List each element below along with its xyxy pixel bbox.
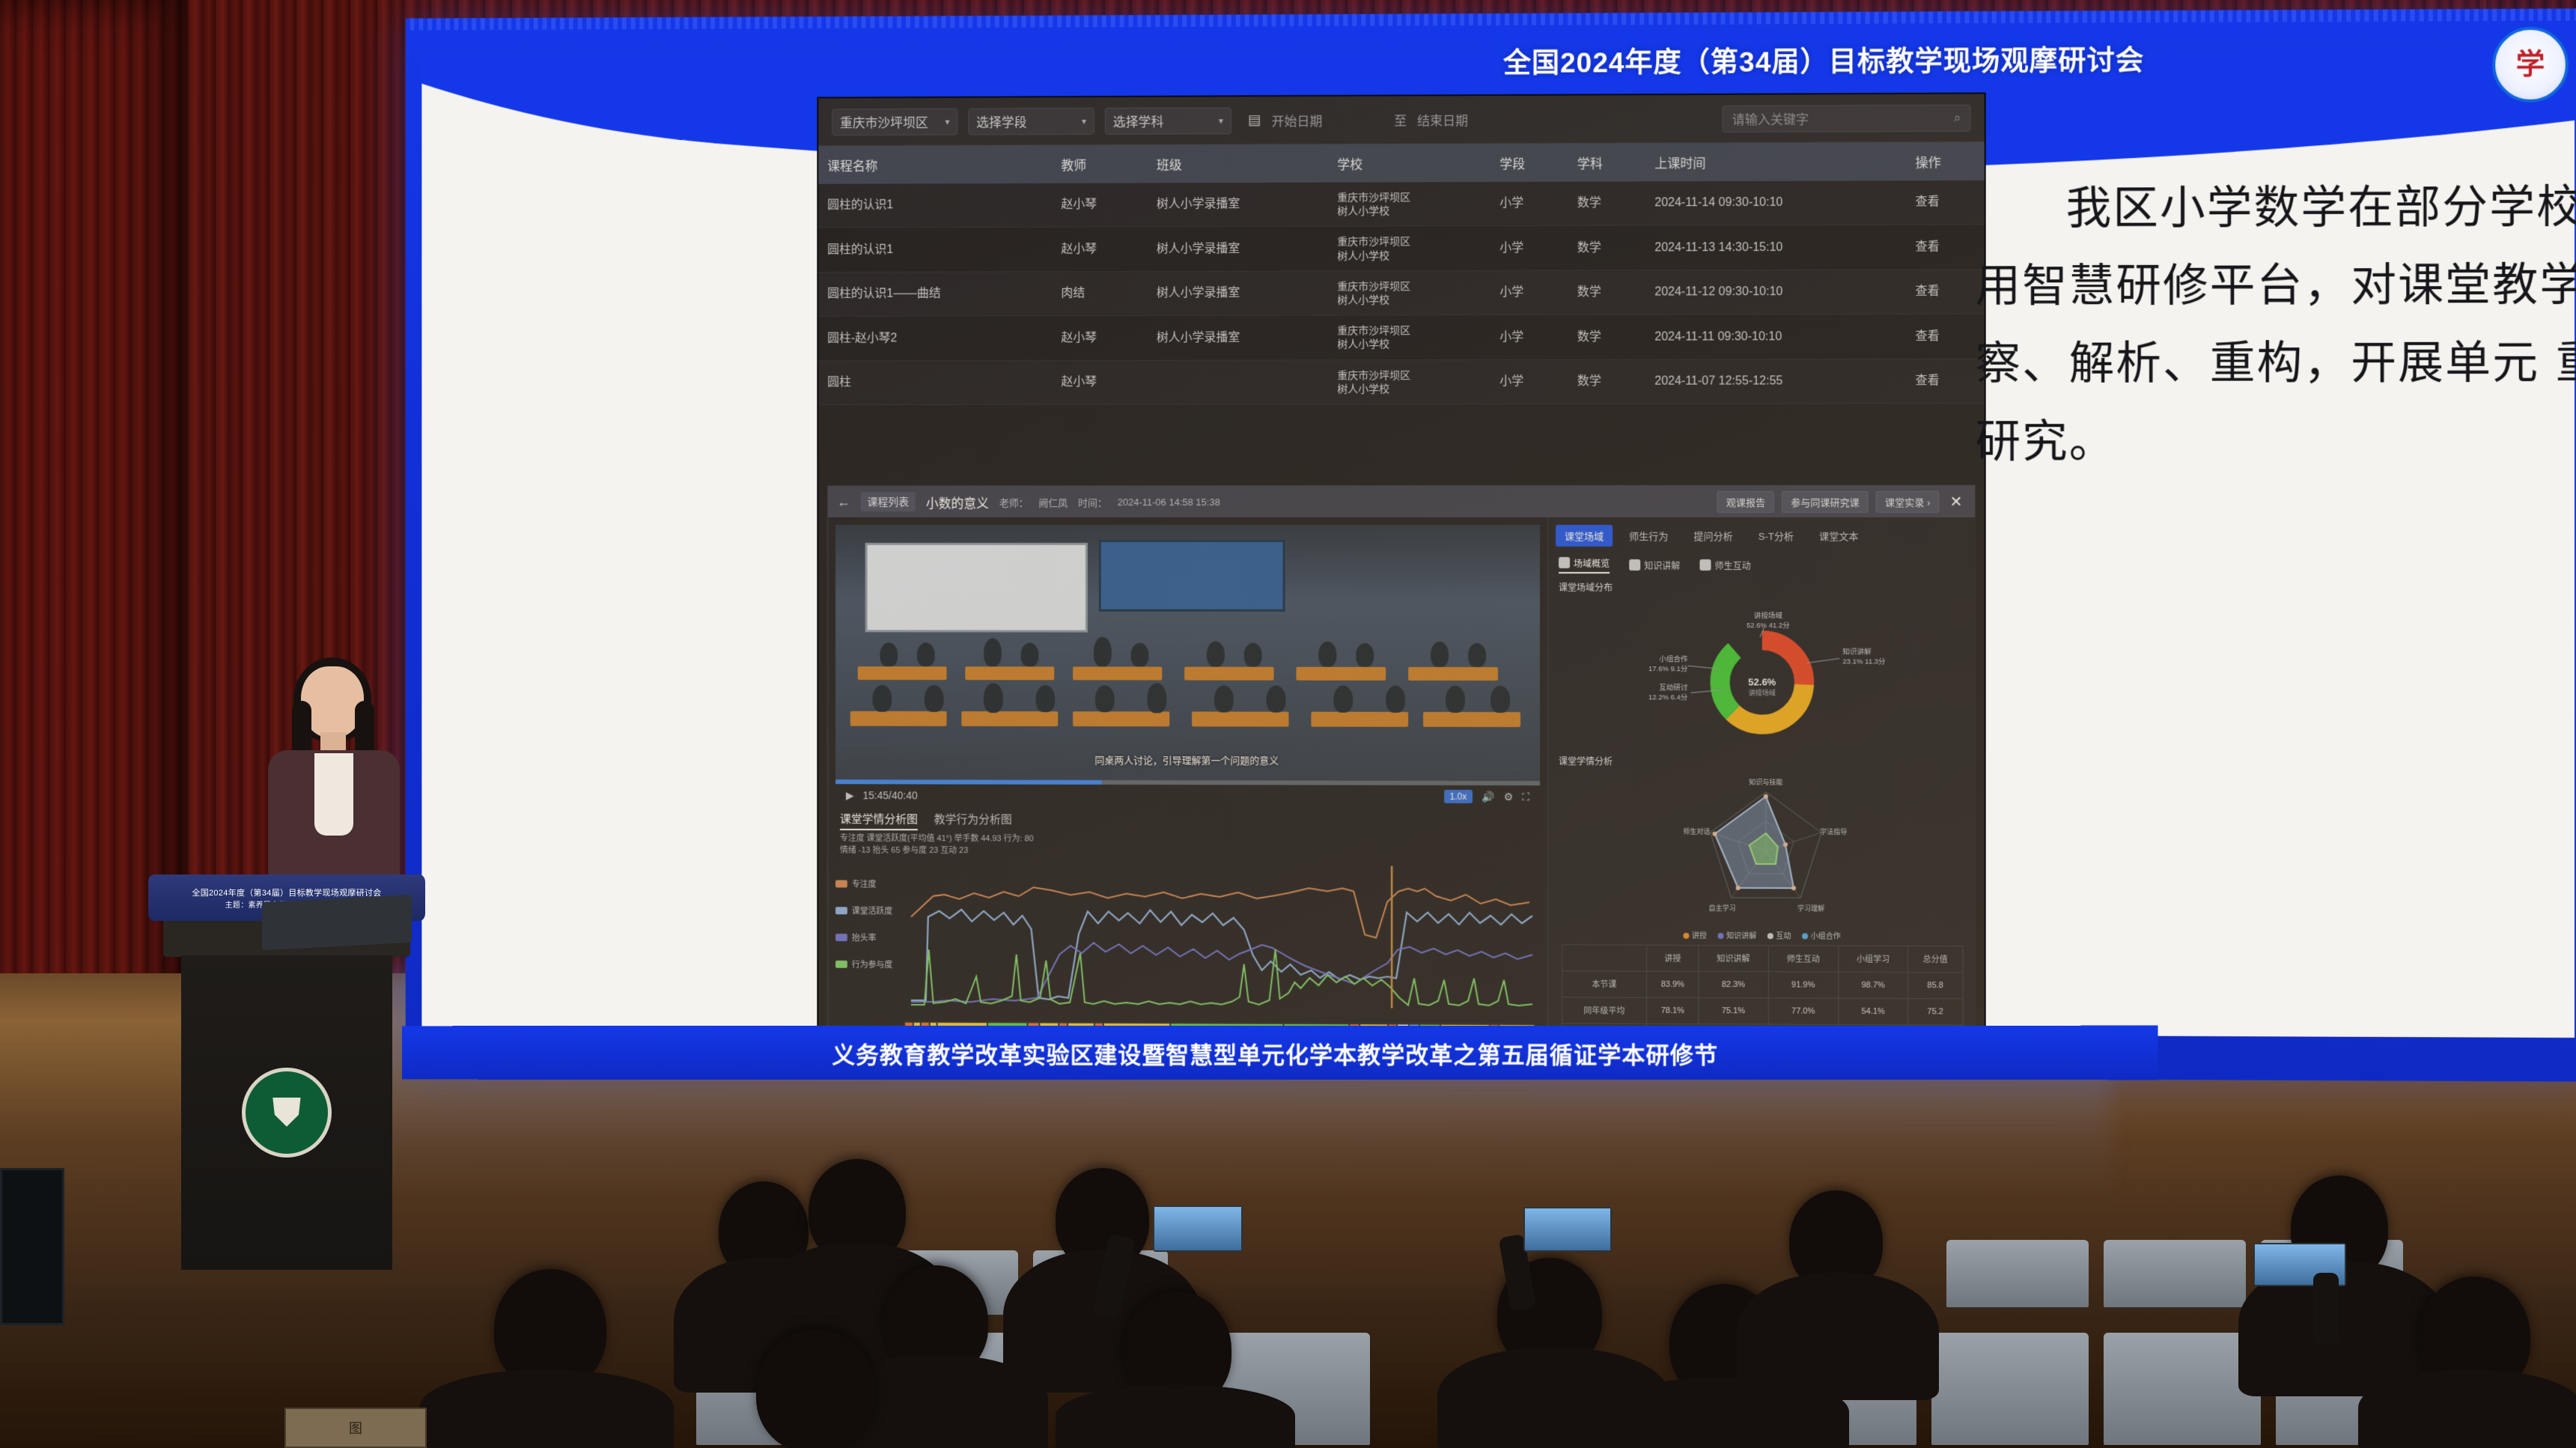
cell-stage: 小学 bbox=[1491, 226, 1568, 271]
video-caption: 同桌两人讨论，引导理解第一个问题的意义 bbox=[835, 752, 1540, 767]
donut-center: 52.6% 讲授场域 bbox=[1745, 676, 1779, 697]
donut-label-4-name: 互动研讨 bbox=[1605, 684, 1687, 693]
audience-phone bbox=[1523, 1207, 1612, 1252]
region-select-value: 重庆市沙坪坝区 bbox=[840, 112, 928, 131]
cell-school: 重庆市沙坪坝区 树人小学校 bbox=[1328, 182, 1491, 226]
table-body: 圆柱的认识1 赵小琴 树人小学录播室 重庆市沙坪坝区 树人小学校 小学 数学 2… bbox=[818, 180, 1984, 405]
view-link[interactable]: 查看 bbox=[1906, 314, 1984, 359]
legend-label: 抬头率 bbox=[852, 931, 877, 943]
tab-st-analysis[interactable]: S-T分析 bbox=[1750, 525, 1803, 547]
table-row[interactable]: 圆柱 赵小琴 重庆市沙坪坝区 树人小学校 小学 数学 2024-11-07 12… bbox=[818, 359, 1984, 405]
radar-axis-3: 自主学习 bbox=[1709, 904, 1736, 912]
back-arrow-icon[interactable]: ← bbox=[837, 494, 850, 510]
donut-label-1-name: 讲授场域 bbox=[1727, 612, 1810, 621]
slide-line-1: 我区小学数学在部分学校利 bbox=[1976, 168, 2576, 248]
table-row[interactable]: 圆柱的认识1 赵小琴 树人小学录播室 重庆市沙坪坝区 树人小学校 小学 数学 2… bbox=[818, 225, 1984, 272]
legend-item: 专注度 bbox=[835, 877, 892, 889]
cell-stage: 小学 bbox=[1491, 359, 1568, 404]
cell-time: 2024-11-12 09:30-10:10 bbox=[1645, 270, 1906, 314]
cell-subject: 数学 bbox=[1568, 314, 1646, 359]
observation-report-button[interactable]: 观课报告 bbox=[1717, 490, 1774, 512]
legend-item: 讲授 bbox=[1683, 929, 1707, 940]
cell-time: 2024-11-11 09:30-10:10 bbox=[1645, 314, 1906, 359]
subtab-field-overview[interactable]: 场域概览 bbox=[1559, 557, 1610, 574]
col-subject: 学科 bbox=[1568, 143, 1646, 181]
modal-header-actions: 观课报告 参与同课研究课 课堂实录 › ✕ bbox=[1717, 490, 1966, 512]
seat bbox=[2104, 1240, 2246, 1307]
course-detail-modal: ← 课程列表 小数的意义 老师： 阙仁凤 时间： 2024-11-06 14:5… bbox=[827, 485, 1975, 1047]
donut-label-2-name: 知识讲解 bbox=[1842, 648, 1925, 657]
legend-label: 讲授 bbox=[1692, 932, 1707, 940]
video-time: 15:45/40:40 bbox=[862, 789, 917, 801]
audience-shoulders bbox=[2358, 1370, 2576, 1448]
audience-head bbox=[756, 1329, 876, 1448]
legend-item: 行为参与度 bbox=[835, 958, 892, 970]
school-line-2: 树人小学校 bbox=[1337, 249, 1482, 263]
calendar-icon: ▤ bbox=[1248, 112, 1261, 129]
embedded-app-screenshot: 重庆市沙坪坝区 ▾ 选择学段 ▾ 选择学科 ▾ ▤ 开始日期 至 结束日期 请输… bbox=[818, 94, 1984, 1056]
classroom-video[interactable]: 同桌两人讨论，引导理解第一个问题的意义 bbox=[835, 525, 1540, 785]
col-teacher: 教师 bbox=[1053, 145, 1148, 183]
analysis-header-row: 讲授 知识讲解 师生互动 小组学习 总分值 bbox=[1562, 945, 1962, 973]
audience-arm bbox=[2313, 1273, 2339, 1345]
cell-time: 2024-11-07 12:55-12:55 bbox=[1645, 359, 1906, 404]
donut-label-1: 讲授场域 52.6% 41.2分 bbox=[1727, 612, 1810, 631]
cell-class: 树人小学录播室 bbox=[1148, 271, 1328, 316]
audience-shoulders bbox=[1056, 1385, 1295, 1448]
slide-body-text: 我区小学数学在部分学校利 用智慧研修平台，对课堂教学进 行观察、解析、重构，开展… bbox=[1976, 168, 2576, 481]
col-time: 上课时间 bbox=[1645, 142, 1906, 181]
arow-1-c5: 75.2 bbox=[1908, 999, 1963, 1025]
table-row[interactable]: 圆柱的认识1——曲结 肉结 树人小学录播室 重庆市沙坪坝区 树人小学校 小学 数… bbox=[818, 270, 1984, 317]
video-frame bbox=[835, 525, 1540, 785]
arow-0-c4: 98.7% bbox=[1838, 972, 1907, 998]
radar-axis-1: 学法指导 bbox=[1820, 827, 1847, 836]
col-school: 学校 bbox=[1328, 144, 1491, 183]
end-date-input[interactable]: 结束日期 bbox=[1417, 110, 1529, 130]
start-date-input[interactable]: 开始日期 bbox=[1272, 111, 1384, 130]
left-pane: 同桌两人讨论，引导理解第一个问题的意义 ▶ 15:45/40:40 1.0x 🔊… bbox=[828, 517, 1547, 1046]
learning-analysis-title: 课堂学情分析 bbox=[1548, 747, 1976, 768]
subtab-label: 知识讲解 bbox=[1644, 561, 1680, 571]
radar-axis-4: 师生对话 bbox=[1683, 827, 1710, 836]
tab-classroom-field[interactable]: 课堂场域 bbox=[1556, 525, 1613, 547]
arow-0-c3: 91.9% bbox=[1768, 972, 1838, 998]
teacher-value: 阙仁凤 bbox=[1038, 495, 1068, 509]
legend-label: 互动 bbox=[1776, 932, 1791, 940]
tab-classroom-text[interactable]: 课堂文本 bbox=[1810, 525, 1867, 547]
slide-line-2: 用智慧研修平台，对课堂教学进 bbox=[1976, 258, 2576, 312]
arow-0-label: 本节课 bbox=[1562, 971, 1647, 997]
cell-stage: 小学 bbox=[1491, 270, 1568, 315]
learning-status-line-chart: 专注度 课堂活跃度 抬头率 行为参与度 bbox=[835, 860, 1540, 1012]
school-line-1: 重庆市沙坪坝区 bbox=[1337, 368, 1482, 382]
audience-phone bbox=[1153, 1205, 1243, 1252]
projection-screen: 全国2024年度（第34届）目标教学现场观摩研讨会 学 我区小学数学在部分学校利… bbox=[406, 8, 2576, 1081]
tree-icon: ⛊ bbox=[272, 1093, 301, 1132]
search-input-placeholder: 请输入关键字 bbox=[1732, 109, 1809, 127]
cell-course: 圆柱的认识1 bbox=[818, 183, 1052, 228]
field-distribution-donut: 52.6% 讲授场域 讲授场域 52.6% 41.2分 知识讲解 23.1% 1… bbox=[1548, 594, 1976, 748]
seat bbox=[2104, 1333, 2261, 1445]
radar-axis-0: 知识与技能 bbox=[1749, 778, 1782, 786]
stage-select[interactable]: 选择学段 ▾ bbox=[968, 107, 1094, 134]
arow-1-c1: 78.1% bbox=[1647, 997, 1699, 1023]
view-link[interactable]: 查看 bbox=[1906, 225, 1984, 270]
chevron-down-icon: ▾ bbox=[945, 116, 949, 127]
line-chart-legend: 专注度 课堂活跃度 抬头率 行为参与度 bbox=[835, 877, 892, 970]
donut-label-2: 知识讲解 23.1% 11.3分 bbox=[1842, 648, 1925, 667]
time-value: 2024-11-06 14:58 15:38 bbox=[1118, 496, 1220, 508]
school-line-2: 树人小学校 bbox=[1337, 382, 1482, 395]
bottom-banner-text: 义务教育教学改革实验区建设暨智慧型单元化学本教学改革之第五届循证学本研修节 bbox=[832, 1035, 1718, 1069]
view-link[interactable]: 查看 bbox=[1906, 359, 1984, 404]
analysis-panel: 课堂场域 师生行为 提问分析 S-T分析 课堂文本 场域概览 知识讲解 师生互动… bbox=[1547, 517, 1976, 1048]
stage-scene: 全国2024年度（第34届）目标教学现场观摩研讨会 学 我区小学数学在部分学校利… bbox=[0, 0, 2576, 1448]
donut-center-label: 讲授场域 bbox=[1745, 687, 1779, 697]
analysis-row: 本节课 83.9% 82.3% 91.9% 98.7% 85.8 bbox=[1562, 971, 1962, 999]
floor-placard-text: 图 bbox=[349, 1418, 362, 1438]
cell-teacher: 赵小琴 bbox=[1053, 227, 1148, 272]
whiteboard bbox=[865, 543, 1088, 633]
playback-speed[interactable]: 1.0x bbox=[1444, 790, 1473, 803]
donut-center-value: 52.6% bbox=[1745, 676, 1779, 687]
audience bbox=[0, 1146, 2576, 1448]
donut-label-2-value: 23.1% 11.3分 bbox=[1842, 657, 1925, 667]
arow-0-c5: 85.8 bbox=[1908, 973, 1963, 999]
radar-axis-2: 学习理解 bbox=[1797, 904, 1824, 912]
cell-teacher: 赵小琴 bbox=[1053, 316, 1148, 360]
arow-0-c2: 82.3% bbox=[1699, 972, 1768, 998]
ath-4: 小组学习 bbox=[1838, 946, 1907, 972]
col-course: 课程名称 bbox=[818, 145, 1052, 184]
ath-3: 师生互动 bbox=[1768, 946, 1838, 972]
legend-label: 行为参与度 bbox=[852, 958, 892, 970]
knowledge-icon bbox=[1629, 559, 1640, 571]
cell-class: 树人小学录播室 bbox=[1148, 315, 1328, 360]
analysis-row: 同年级平均 78.1% 75.1% 77.0% 54.1% 75.2 bbox=[1562, 997, 1962, 1025]
donut-label-1-value: 52.6% 41.2分 bbox=[1727, 621, 1810, 631]
ath-1: 讲授 bbox=[1647, 945, 1699, 971]
ath-2: 知识讲解 bbox=[1699, 945, 1768, 971]
time-label: 时间： bbox=[1078, 495, 1107, 509]
cell-subject: 数学 bbox=[1568, 359, 1646, 404]
teacher-label: 老师： bbox=[999, 495, 1029, 509]
donut-label-4: 互动研讨 12.2% 6.4分 bbox=[1605, 684, 1687, 703]
audience-shoulders bbox=[1737, 1273, 1939, 1400]
search-icon[interactable]: ⌕ bbox=[1954, 110, 1961, 125]
cell-school: 重庆市沙坪坝区 树人小学校 bbox=[1328, 315, 1491, 360]
cell-teacher: 赵小琴 bbox=[1053, 360, 1148, 404]
legend-label: 专注度 bbox=[852, 877, 877, 889]
modal-title: 小数的意义 bbox=[926, 493, 989, 511]
subject-select-value: 选择学科 bbox=[1113, 112, 1164, 130]
stage-speaker-box bbox=[0, 1168, 64, 1325]
subtab-label: 场域概览 bbox=[1574, 559, 1610, 569]
analysis-table-header: 讲授 知识讲解 师生互动 小组学习 总分值 bbox=[1562, 945, 1962, 973]
donut-label-4-value: 12.2% 6.4分 bbox=[1605, 693, 1687, 703]
cell-subject: 数学 bbox=[1568, 181, 1646, 225]
seat bbox=[1931, 1333, 2089, 1445]
fullscreen-icon[interactable]: ⛶ bbox=[1522, 791, 1529, 803]
school-line-2: 树人小学校 bbox=[1337, 204, 1482, 218]
learning-radar-chart: 知识与技能 学法指导 学习理解 自主学习 师生对话 bbox=[1548, 767, 1976, 930]
legend-label: 小组合作 bbox=[1811, 932, 1841, 940]
conference-logo: 学 bbox=[2492, 27, 2569, 103]
table-header-row: 课程名称 教师 班级 学校 学段 学科 上课时间 操作 bbox=[818, 142, 1984, 184]
class-recording-button[interactable]: 课堂实录 › bbox=[1876, 490, 1940, 512]
legend-item: 抬头率 bbox=[835, 931, 892, 943]
cell-subject: 数学 bbox=[1568, 225, 1646, 270]
line-chart-plot bbox=[904, 865, 1535, 1009]
arow-1-c4: 54.1% bbox=[1838, 998, 1907, 1024]
settings-icon[interactable]: ⚙ bbox=[1504, 791, 1514, 803]
volume-icon[interactable]: 🔊 bbox=[1482, 790, 1494, 803]
audience-shoulders bbox=[419, 1370, 674, 1448]
arow-1-c3: 77.0% bbox=[1768, 998, 1838, 1024]
subtab-interaction[interactable]: 师生互动 bbox=[1699, 559, 1750, 572]
podium-sign-line-1: 全国2024年度（第34届）目标教学现场观摩研讨会 bbox=[192, 886, 381, 898]
floor-placard: 图 bbox=[284, 1408, 427, 1448]
cell-time: 2024-11-14 09:30-10:10 bbox=[1645, 180, 1906, 225]
chart-annotation: 专注度 课堂活跃度(平均值 41°) 举手数 44.93 行为: 80 情绪 -… bbox=[828, 832, 1547, 859]
tab-teaching-behavior[interactable]: 教学行为分析图 bbox=[934, 811, 1012, 830]
cell-course: 圆柱的认识1——曲结 bbox=[818, 272, 1052, 317]
donut-label-3: 小组合作 17.6% 9.1分 bbox=[1605, 655, 1687, 675]
legend-swatch bbox=[835, 880, 847, 887]
logo-mark: 学 bbox=[2516, 50, 2545, 79]
analysis-tabs: 课堂场域 师生行为 提问分析 S-T分析 课堂文本 bbox=[1548, 517, 1976, 554]
analysis-legend: 讲授 知识讲解 互动 小组合作 bbox=[1548, 928, 1976, 944]
cell-course: 圆柱-赵小琴2 bbox=[818, 316, 1052, 361]
video-controls: ▶ 15:45/40:40 1.0x 🔊 ⚙ ⛶ bbox=[835, 784, 1540, 808]
donut-label-3-name: 小组合作 bbox=[1605, 655, 1687, 665]
subtab-knowledge-explain[interactable]: 知识讲解 bbox=[1629, 559, 1680, 572]
school-emblem: ⛊ bbox=[242, 1068, 332, 1158]
cell-school: 重庆市沙坪坝区 树人小学校 bbox=[1328, 226, 1491, 271]
bottom-screen-banner: 义务教育教学改革实验区建设暨智慧型单元化学本教学改革之第五届循证学本研修节 bbox=[402, 1026, 2158, 1080]
view-link[interactable]: 查看 bbox=[1906, 180, 1984, 225]
chevron-down-icon: ▾ bbox=[1219, 115, 1223, 126]
field-distribution-title: 课堂场域分布 bbox=[1548, 574, 1976, 594]
course-list-chip[interactable]: 课程列表 bbox=[861, 492, 916, 511]
arow-0-c1: 83.9% bbox=[1647, 971, 1699, 997]
school-line-1: 重庆市沙坪坝区 bbox=[1337, 323, 1482, 338]
radar-svg: 知识与技能 学法指导 学习理解 自主学习 师生对话 bbox=[1548, 767, 1977, 919]
legend-item: 小组合作 bbox=[1802, 929, 1841, 940]
cell-time: 2024-11-13 14:30-15:10 bbox=[1645, 225, 1906, 270]
cell-school: 重庆市沙坪坝区 树人小学校 bbox=[1328, 270, 1491, 315]
view-link[interactable]: 查看 bbox=[1906, 270, 1984, 314]
cell-teacher: 赵小琴 bbox=[1053, 183, 1148, 227]
cell-stage: 小学 bbox=[1491, 182, 1568, 226]
search-input[interactable]: 请输入关键字 ⌕ bbox=[1723, 104, 1971, 132]
join-research-button[interactable]: 参与同课研究课 bbox=[1782, 490, 1869, 512]
course-list-table: 课程名称 教师 班级 学校 学段 学科 上课时间 操作 圆柱的认识1 赵小琴 树 bbox=[818, 142, 1984, 405]
subtab-label: 师生互动 bbox=[1715, 561, 1751, 571]
col-stage: 学段 bbox=[1491, 144, 1568, 182]
cell-teacher: 肉结 bbox=[1053, 271, 1148, 315]
col-action: 操作 bbox=[1906, 142, 1984, 181]
donut-label-3-value: 17.6% 9.1分 bbox=[1605, 665, 1687, 675]
modal-body: 同桌两人讨论，引导理解第一个问题的意义 ▶ 15:45/40:40 1.0x 🔊… bbox=[828, 517, 1974, 1048]
date-range-separator: 至 bbox=[1394, 110, 1407, 129]
cell-class: 树人小学录播室 bbox=[1148, 226, 1328, 271]
arow-1-c2: 75.1% bbox=[1699, 998, 1768, 1024]
cell-stage: 小学 bbox=[1491, 314, 1568, 359]
region-select[interactable]: 重庆市沙坪坝区 ▾ bbox=[832, 108, 957, 135]
analysis-subtabs: 场域概览 知识讲解 师生互动 bbox=[1548, 554, 1976, 574]
cell-course: 圆柱的认识1 bbox=[818, 227, 1052, 272]
school-line-1: 重庆市沙坪坝区 bbox=[1337, 279, 1482, 293]
school-line-2: 树人小学校 bbox=[1337, 337, 1482, 351]
cell-school: 重庆市沙坪坝区 树人小学校 bbox=[1328, 359, 1491, 404]
chevron-down-icon: ▾ bbox=[1082, 115, 1086, 126]
legend-label: 课堂活跃度 bbox=[852, 904, 892, 916]
chart-annotation-line-2: 情绪 -13 抬头 65 参与度 23 互动 23 bbox=[840, 845, 1535, 859]
cell-class: 树人小学录播室 bbox=[1148, 183, 1328, 227]
subject-select[interactable]: 选择学科 ▾ bbox=[1105, 107, 1231, 135]
legend-swatch bbox=[835, 961, 847, 968]
seat bbox=[1946, 1240, 2089, 1307]
cell-subject: 数学 bbox=[1568, 270, 1646, 315]
line-chart-svg bbox=[904, 865, 1535, 1009]
school-line-2: 树人小学校 bbox=[1337, 293, 1482, 307]
legend-item: 互动 bbox=[1767, 929, 1791, 940]
legend-item: 课堂活跃度 bbox=[835, 904, 892, 916]
legend-swatch bbox=[835, 934, 847, 941]
cell-course: 圆柱 bbox=[818, 360, 1052, 405]
modal-header: ← 课程列表 小数的意义 老师： 阙仁凤 时间： 2024-11-06 14:5… bbox=[828, 486, 1974, 518]
interaction-icon bbox=[1699, 559, 1711, 571]
school-line-1: 重庆市沙坪坝区 bbox=[1337, 190, 1482, 204]
close-icon[interactable]: ✕ bbox=[1947, 492, 1966, 511]
stage-select-value: 选择学段 bbox=[976, 112, 1026, 130]
tab-teacher-student-behavior[interactable]: 师生行为 bbox=[1620, 525, 1677, 547]
filter-toolbar: 重庆市沙坪坝区 ▾ 选择学段 ▾ 选择学科 ▾ ▤ 开始日期 至 结束日期 请输… bbox=[818, 94, 1984, 146]
podium-laptop bbox=[262, 895, 412, 950]
table-header: 课程名称 教师 班级 学校 学段 学科 上课时间 操作 bbox=[818, 142, 1984, 184]
left-chart-tabs: 课堂学情分析图 教学行为分析图 bbox=[828, 806, 1547, 833]
play-icon[interactable]: ▶ bbox=[846, 789, 854, 802]
video-controls-right: 1.0x 🔊 ⚙ ⛶ bbox=[1444, 790, 1529, 803]
arow-1-label: 同年级平均 bbox=[1562, 997, 1647, 1023]
cell-class bbox=[1148, 359, 1328, 404]
school-line-1: 重庆市沙坪坝区 bbox=[1337, 234, 1482, 249]
speaker-shirt bbox=[314, 753, 353, 836]
conference-banner-title: 全国2024年度（第34届）目标教学现场观摩研讨会 bbox=[1503, 37, 2439, 81]
legend-label: 知识讲解 bbox=[1726, 932, 1756, 940]
col-class: 班级 bbox=[1148, 145, 1328, 183]
legend-swatch bbox=[835, 907, 847, 914]
legend-item: 知识讲解 bbox=[1717, 929, 1756, 940]
overview-icon bbox=[1559, 557, 1570, 568]
tab-learning-analysis[interactable]: 课堂学情分析图 bbox=[840, 811, 918, 830]
table-row[interactable]: 圆柱-赵小琴2 赵小琴 树人小学录播室 重庆市沙坪坝区 树人小学校 小学 数学 … bbox=[818, 314, 1984, 360]
tab-question-analysis[interactable]: 提问分析 bbox=[1684, 525, 1741, 547]
table-row[interactable]: 圆柱的认识1 赵小琴 树人小学录播室 重庆市沙坪坝区 树人小学校 小学 数学 2… bbox=[818, 180, 1984, 228]
ath-5: 总分值 bbox=[1908, 946, 1963, 972]
ath-0 bbox=[1562, 945, 1647, 971]
projector-screen bbox=[1099, 540, 1285, 612]
